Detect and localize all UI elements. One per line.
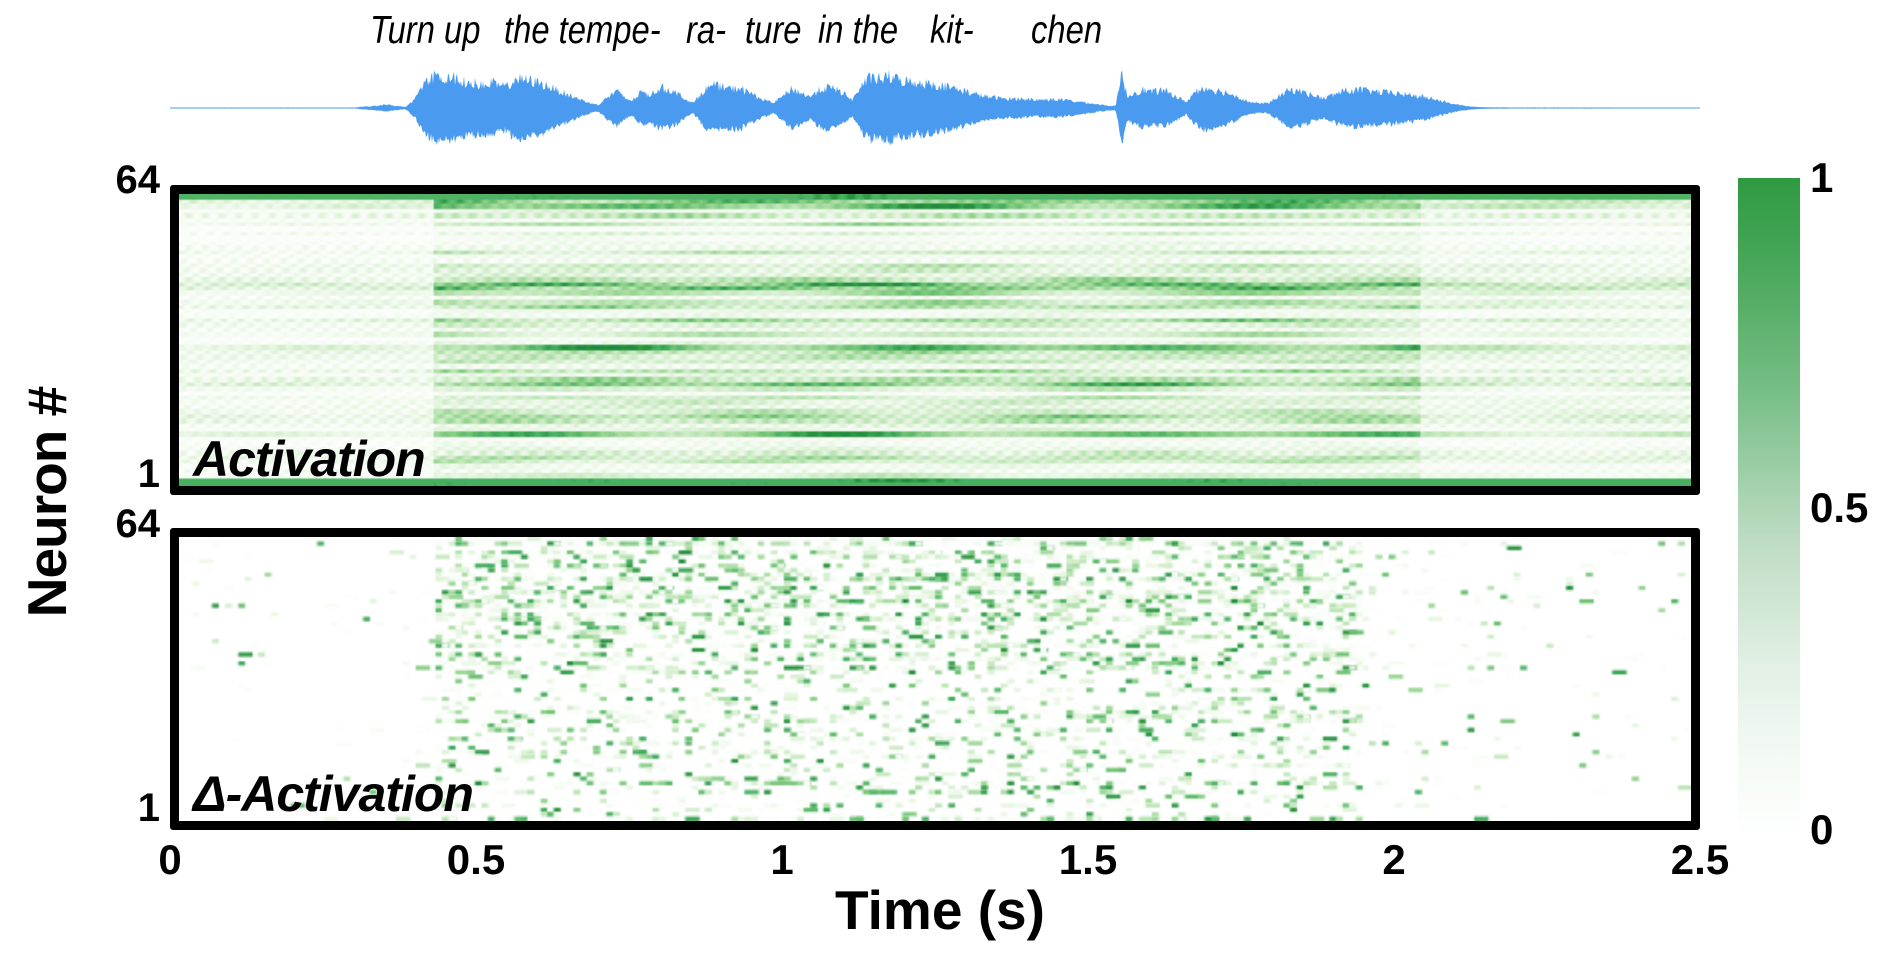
x-tick-label: 2.5 [1640, 836, 1760, 884]
colorbar-tick-0-5: 0.5 [1810, 484, 1868, 532]
y-axis-label: Neuron # [15, 337, 79, 667]
panel-label-delta-activation: Δ-Activation [193, 769, 473, 819]
speech-transcript: Turn upthe tempe-ra-turein thekit-chen [0, 8, 1884, 60]
x-tick-label: 1 [722, 836, 842, 884]
colorbar-tick-1: 1 [1810, 154, 1833, 202]
transcript-word: ture [745, 8, 801, 54]
y-tick-activation-top: 64 [80, 158, 160, 203]
transcript-word: chen [1031, 8, 1102, 54]
x-tick-label: 0 [110, 836, 230, 884]
transcript-word: kit- [930, 8, 974, 54]
colorbar: 1 0.5 0 [1738, 178, 1800, 838]
transcript-word: Turn up [370, 8, 480, 54]
colorbar-gradient [1738, 178, 1800, 838]
panel-label-activation: Activation [193, 434, 425, 484]
audio-waveform-panel [170, 62, 1700, 154]
heatmap-panel-activation[interactable]: Activation [170, 185, 1700, 495]
audio-waveform [170, 62, 1700, 154]
transcript-word: in the [818, 8, 898, 54]
heatmap-panel-delta-activation[interactable]: Δ-Activation [170, 528, 1700, 830]
y-tick-delta-top: 64 [80, 502, 160, 547]
transcript-word: the tempe- [504, 8, 661, 54]
x-tick-label: 2 [1334, 836, 1454, 884]
colorbar-tick-0: 0 [1810, 806, 1833, 854]
x-tick-label: 1.5 [1028, 836, 1148, 884]
y-tick-delta-bottom: 1 [80, 786, 160, 831]
x-axis-label: Time (s) [660, 878, 1220, 942]
y-tick-activation-bottom: 1 [80, 452, 160, 497]
transcript-word: ra- [686, 8, 726, 54]
figure-root: Turn upthe tempe-ra-turein thekit-chen N… [0, 0, 1884, 976]
x-tick-label: 0.5 [416, 836, 536, 884]
